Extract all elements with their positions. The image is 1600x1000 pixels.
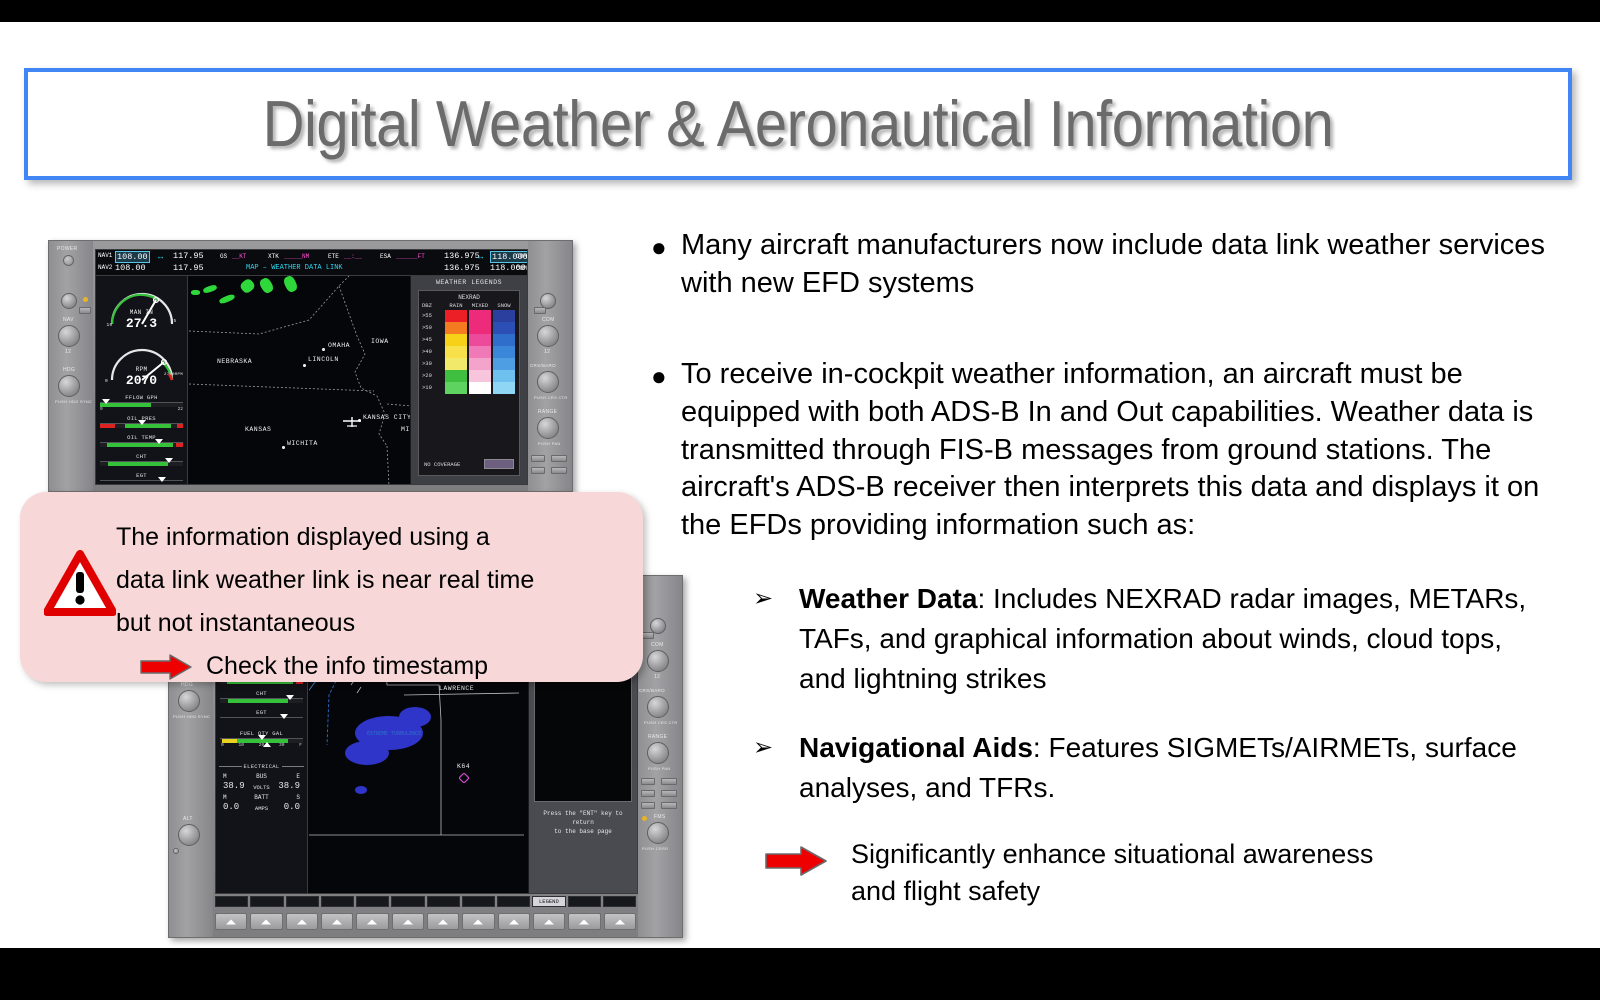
legend-swatch-rain-1 xyxy=(445,322,467,334)
map-label-wichita: WICHITA xyxy=(287,440,318,447)
legend-no-coverage-swatch xyxy=(484,459,514,469)
map-label-iowa: IOWA xyxy=(371,338,389,345)
map-label-lincoln: LINCOLN xyxy=(308,356,339,363)
map-label-kansas-city: KANSAS CITY xyxy=(363,414,411,421)
softkey-4[interactable] xyxy=(356,896,389,907)
nav-knob-label: NAV xyxy=(63,317,74,323)
oil-temp-bar: OIL TEMP xyxy=(100,434,183,447)
bezel-btn-3[interactable] xyxy=(531,467,545,474)
oil-temp-label: OIL TEMP xyxy=(100,434,183,441)
bot-left-dot xyxy=(173,848,179,854)
ete-value: __:__ xyxy=(344,253,362,260)
legend-title: WEATHER LEGENDS xyxy=(411,276,527,286)
bullet-marker-2: ● xyxy=(645,356,681,544)
bot-fuel-bar: FUEL QTY GAL 0 10 20 30 F xyxy=(220,730,303,748)
legend-swatch-snow-6 xyxy=(493,382,515,394)
map-pane-top: MAN IN 27.3 10 35 RPM 2070 0 2700RPM xyxy=(96,276,527,484)
weather-map-top[interactable]: NEBRASKA IOWA KANSAS OMAHA LINCOLN KANSA… xyxy=(189,276,409,484)
final-note-line-2: and flight safety xyxy=(851,873,1543,909)
side-msg-line1: Press the "ENT" key to return xyxy=(533,809,633,827)
efd-top-screen: NAV1 108.00 ↔ 117.95 NAV2 108.00 117.95 … xyxy=(95,249,528,485)
bot-hdg-knob[interactable] xyxy=(178,690,200,712)
nav2-standby[interactable]: 117.95 xyxy=(173,263,204,273)
efd-top-unit: POWER NAV 12 HDG PUSH HDG SYNC COM 12 CR… xyxy=(48,240,573,492)
sub-bullet-2: ➢ Navigational Aids: Features SIGMETs/AI… xyxy=(753,728,1543,809)
fflow-label: FFLOW GPH xyxy=(100,394,183,401)
bezel-softkey-button-2[interactable] xyxy=(286,913,318,930)
softkey-5[interactable] xyxy=(391,896,424,907)
svg-text:EXTREME TURBULENCE: EXTREME TURBULENCE xyxy=(367,731,421,737)
legend-dbz-1: >50 xyxy=(422,322,444,334)
fuel-scale-1: 10 xyxy=(239,743,244,748)
fuel-scale-0: 0 xyxy=(221,743,224,748)
bezel-softkey-button-0[interactable] xyxy=(215,913,247,930)
bot-cht-bar: CHT xyxy=(220,690,303,703)
volts-right: 38.9 xyxy=(278,781,300,791)
power-button[interactable] xyxy=(63,255,74,266)
man-label: MAN IN xyxy=(96,309,187,316)
nexrad-cell-1 xyxy=(191,290,200,295)
callout-line-2: data link weather link is near real time xyxy=(116,559,631,602)
map-label-k64: K64 xyxy=(457,763,470,770)
final-note-line-1: Significantly enhance situational awaren… xyxy=(851,836,1543,872)
legend-swatch-rain-0 xyxy=(445,310,467,322)
fuel-scale-4: F xyxy=(299,743,302,748)
legend-col-mixed: MIXED xyxy=(468,302,492,309)
softkey-10[interactable] xyxy=(568,896,601,907)
electrical-title: ELECTRICAL xyxy=(219,763,304,770)
ete-label: ETE xyxy=(328,253,339,260)
egt-bar: EGT xyxy=(100,472,183,485)
city-dot-omaha xyxy=(322,348,325,351)
bezel-softkey-button-10[interactable] xyxy=(568,913,600,930)
legend-col-dbz: DBZ xyxy=(422,302,444,309)
bezel-softkey-button-6[interactable] xyxy=(427,913,459,930)
legend-swatch-rain-5 xyxy=(445,370,467,382)
bezel-softkey-button-7[interactable] xyxy=(462,913,494,930)
softkey-0[interactable] xyxy=(215,896,248,907)
map-label-omaha: OMAHA xyxy=(328,342,350,349)
legend-swatch-snow-4 xyxy=(493,358,515,370)
legend-dbz-0: >55 xyxy=(422,310,444,322)
legend-swatch-mixed-3 xyxy=(469,346,491,358)
power-label: POWER xyxy=(57,246,77,252)
softkey-9[interactable]: LEGEND xyxy=(532,896,565,907)
legend-dbz-3: >40 xyxy=(422,346,444,358)
legend-dbz-labels: >55 >50 >45 >40 >30 >20 >10 xyxy=(422,310,444,394)
bullet-text-2: To receive in-cockpit weather informatio… xyxy=(681,356,1570,544)
content-column: ● Many aircraft manufacturers now includ… xyxy=(645,227,1570,909)
hdg-knob[interactable] xyxy=(58,375,80,397)
legend-swatch-snow-0 xyxy=(493,310,515,322)
esa-label: ESA xyxy=(380,253,391,260)
fflow-min: 0 xyxy=(100,407,103,412)
bus-label: BUS xyxy=(256,773,267,780)
nav-com-bar: NAV1 108.00 ↔ 117.95 NAV2 108.00 117.95 … xyxy=(96,250,527,276)
bot-hdg-sub: PUSH HDG SYNC xyxy=(173,714,210,719)
com1-standby[interactable]: 136.975 xyxy=(444,251,480,261)
legend-swatch-snow-5 xyxy=(493,370,515,382)
legend-swatch-snow-1 xyxy=(493,322,515,334)
cht-bar: CHT xyxy=(100,453,183,466)
red-right-arrow-icon-callout xyxy=(140,654,192,680)
bullet-item-1: ● Many aircraft manufacturers now includ… xyxy=(645,227,1570,302)
hdg-knob-sub: PUSH HDG SYNC xyxy=(55,399,92,404)
legend-swatch-rain-4 xyxy=(445,358,467,370)
softkey-3[interactable] xyxy=(321,896,354,907)
sub-bullet-text-1: Weather Data: Includes NEXRAD radar imag… xyxy=(799,579,1543,700)
legend-col-snow: SNOW xyxy=(492,302,516,309)
esa-value: ______FT xyxy=(396,253,425,260)
bezel-btn-2[interactable] xyxy=(551,455,567,462)
final-note-arrow-wrap xyxy=(765,836,851,876)
bezel-softkey-button-4[interactable] xyxy=(356,913,388,930)
fflow-bar: FFLOW GPH 022 xyxy=(100,394,183,412)
softkey-6[interactable] xyxy=(427,896,460,907)
com-knob[interactable] xyxy=(537,325,559,347)
xtk-value: _____NM xyxy=(284,253,309,260)
nav1-standby[interactable]: 117.95 xyxy=(173,251,204,261)
nav1-label: NAV1 xyxy=(98,252,112,259)
xtk-label: XTK xyxy=(268,253,279,260)
final-note-text: Significantly enhance situational awaren… xyxy=(851,836,1543,908)
com1-label: COM1 xyxy=(516,253,528,260)
legend-col-rain: RAIN xyxy=(444,302,468,309)
sub-bullet-bold-1: Weather Data xyxy=(799,583,977,614)
bezel-btn-1[interactable] xyxy=(531,455,545,462)
bezel-softkey-button-9[interactable] xyxy=(533,913,565,930)
bot-egt-bar: EGT xyxy=(220,709,303,722)
volts-left: 38.9 xyxy=(223,781,245,791)
egt-label: EGT xyxy=(100,472,183,479)
amps-label: AMPS xyxy=(255,805,268,812)
bullet-item-2: ● To receive in-cockpit weather informat… xyxy=(645,356,1570,544)
softkey-1[interactable] xyxy=(250,896,283,907)
rpm-min: 0 xyxy=(95,379,152,384)
legend-dbz-6: >10 xyxy=(422,382,444,394)
legend-swatch-rain-3 xyxy=(445,346,467,358)
legend-swatch-mixed-0 xyxy=(469,310,491,322)
batt-right: S xyxy=(296,794,300,801)
softkey-bar: LEGEND xyxy=(215,896,636,907)
legend-swatch-mixed-6 xyxy=(469,382,491,394)
legend-swatch-snow-3 xyxy=(493,346,515,358)
amber-indicator xyxy=(83,297,88,302)
weather-legend-panel: WEATHER LEGENDS NEXRAD DBZ RAIN MIXED SN… xyxy=(410,276,527,484)
sub-bullet-marker-1: ➢ xyxy=(753,579,799,700)
map-label-kansas: KANSAS xyxy=(245,426,271,433)
callout-text-block: The information displayed using a data l… xyxy=(116,516,631,688)
range-knob[interactable] xyxy=(537,417,559,439)
com1-swap-icon[interactable]: ↔ xyxy=(478,252,483,262)
crs-baro-knob[interactable] xyxy=(537,371,559,393)
hdg-knob-label: HDG xyxy=(63,367,75,373)
electrical-block: ELECTRICAL M BUS E 38.9 VOLTS 38.9 xyxy=(219,763,304,812)
bezel-softkey-button-3[interactable] xyxy=(321,913,353,930)
map-vectors xyxy=(189,276,409,484)
gs-value: __KT xyxy=(232,253,246,260)
legend-snow-column xyxy=(493,310,515,394)
nav-knob-sub: 12 xyxy=(65,349,71,355)
amps-right: 0.0 xyxy=(284,802,300,812)
electrical-title-text: ELECTRICAL xyxy=(242,763,282,770)
com2-label: COM2 xyxy=(516,265,528,272)
sub-bullet-1: ➢ Weather Data: Includes NEXRAD radar im… xyxy=(753,579,1543,700)
ownship-icon xyxy=(341,416,363,428)
legend-swatch-mixed-4 xyxy=(469,358,491,370)
legend-swatch-mixed-5 xyxy=(469,370,491,382)
legend-swatch-mixed-2 xyxy=(469,334,491,346)
legend-dbz-5: >20 xyxy=(422,370,444,382)
sub-bullet-bold-2: Navigational Aids xyxy=(799,732,1033,763)
waypoint-diamond-icon xyxy=(459,773,469,783)
crs-baro-label: CRS/BARO xyxy=(530,363,556,368)
knob-small-top[interactable] xyxy=(61,293,77,309)
legend-mixed-column xyxy=(469,310,491,394)
legend-rain-column xyxy=(445,310,467,394)
bezel-softkey-button-1[interactable] xyxy=(250,913,282,930)
nav2-active[interactable]: 108.00 xyxy=(115,263,146,273)
amps-left: 0.0 xyxy=(223,802,239,812)
bot-alt-label: ALT xyxy=(183,816,193,822)
nav2-label: NAV2 xyxy=(98,264,112,271)
gs-label: GS xyxy=(220,253,227,260)
batt-label: BATT xyxy=(254,794,268,801)
bezel-btn-4[interactable] xyxy=(551,467,567,474)
warning-triangle-icon xyxy=(44,550,116,621)
softkey-8[interactable] xyxy=(497,896,530,907)
legend-box: NEXRAD DBZ RAIN MIXED SNOW >55 >50 >45 xyxy=(418,290,520,476)
fflow-max: 22 xyxy=(178,407,183,412)
legend-swatch-rain-2 xyxy=(445,334,467,346)
fuel-scale-3: 30 xyxy=(279,743,284,748)
softkey-11[interactable] xyxy=(603,896,636,907)
batt-left: M xyxy=(223,794,227,801)
warning-callout: The information displayed using a data l… xyxy=(20,492,643,682)
bezel-softkey-button-8[interactable] xyxy=(498,913,530,930)
engine-gauges-top: MAN IN 27.3 10 35 RPM 2070 0 2700RPM xyxy=(96,276,188,484)
swap-button-left[interactable] xyxy=(79,307,91,314)
callout-line-4: Check the info timestamp xyxy=(206,645,488,688)
city-dot-wichita xyxy=(282,446,285,449)
bus-left: M xyxy=(223,773,227,780)
bezel-softkey-button-5[interactable] xyxy=(392,913,424,930)
nav1-swap-icon[interactable]: ↔ xyxy=(158,252,163,262)
sub-bullet-text-2: Navigational Aids: Features SIGMETs/AIRM… xyxy=(799,728,1543,809)
range-knob-sub: PUSH PAN xyxy=(538,441,561,446)
nav-knob[interactable] xyxy=(58,325,80,347)
bullet-marker-1: ● xyxy=(645,227,681,302)
sub-bullet-list: ➢ Weather Data: Includes NEXRAD radar im… xyxy=(753,579,1543,909)
crs-baro-sub: PUSH CRS CTR xyxy=(534,395,568,400)
bezel-softkey-button-11[interactable] xyxy=(604,913,636,930)
com-knob-label: COM xyxy=(542,317,555,323)
range-knob-label: RANGE xyxy=(538,409,557,415)
bot-egt-label: EGT xyxy=(220,709,303,716)
bezel-button-row xyxy=(215,913,636,930)
legend-subtitle: NEXRAD xyxy=(419,291,519,301)
rpm-label: RPM xyxy=(96,366,187,373)
nav1-active[interactable]: 108.00 xyxy=(115,251,150,263)
legend-dbz-4: >30 xyxy=(422,358,444,370)
callout-line-1: The information displayed using a xyxy=(116,516,631,559)
sub-bullet-marker-2: ➢ xyxy=(753,728,799,809)
side-msg-line2: to the base page xyxy=(533,827,633,836)
efd-top-right-bezel: COM 12 CRS/BARO PUSH CRS CTR RANGE PUSH … xyxy=(528,241,572,491)
legend-no-coverage-label: NO COVERAGE xyxy=(424,461,460,468)
oil-pres-bar: OIL PRES xyxy=(100,415,183,428)
bot-alt-knob[interactable] xyxy=(178,824,200,846)
softkey-2[interactable] xyxy=(286,896,319,907)
final-note: Significantly enhance situational awaren… xyxy=(765,836,1543,908)
red-right-arrow-icon-final xyxy=(765,846,827,876)
legend-swatch-snow-2 xyxy=(493,334,515,346)
legend-swatch-rain-6 xyxy=(445,382,467,394)
callout-line-3: but not instantaneous xyxy=(116,602,631,645)
page-title-bar: MAP – WEATHER DATA LINK xyxy=(246,264,343,272)
title-box: Digital Weather & Aeronautical Informati… xyxy=(24,68,1572,180)
efd-top-left-bezel: POWER NAV 12 HDG PUSH HDG SYNC xyxy=(49,241,93,491)
com2-standby[interactable]: 136.975 xyxy=(444,263,480,273)
legend-swatch-mixed-1 xyxy=(469,322,491,334)
page-title: Digital Weather & Aeronautical Informati… xyxy=(28,91,1568,158)
city-dot-lincoln xyxy=(303,364,306,367)
map-label-nebraska: NEBRASKA xyxy=(217,358,252,365)
bullet-text-1: Many aircraft manufacturers now include … xyxy=(681,227,1570,302)
page-title-text: Digital Weather & Aeronautical Informati… xyxy=(263,86,1334,161)
swap-button-right[interactable] xyxy=(534,307,546,314)
bus-right: E xyxy=(296,773,300,780)
legend-dbz-2: >45 xyxy=(422,334,444,346)
slide-canvas: Digital Weather & Aeronautical Informati… xyxy=(0,22,1600,948)
softkey-7[interactable] xyxy=(462,896,495,907)
volts-label: VOLTS xyxy=(253,784,270,791)
com-knob-sub: 12 xyxy=(544,349,550,355)
